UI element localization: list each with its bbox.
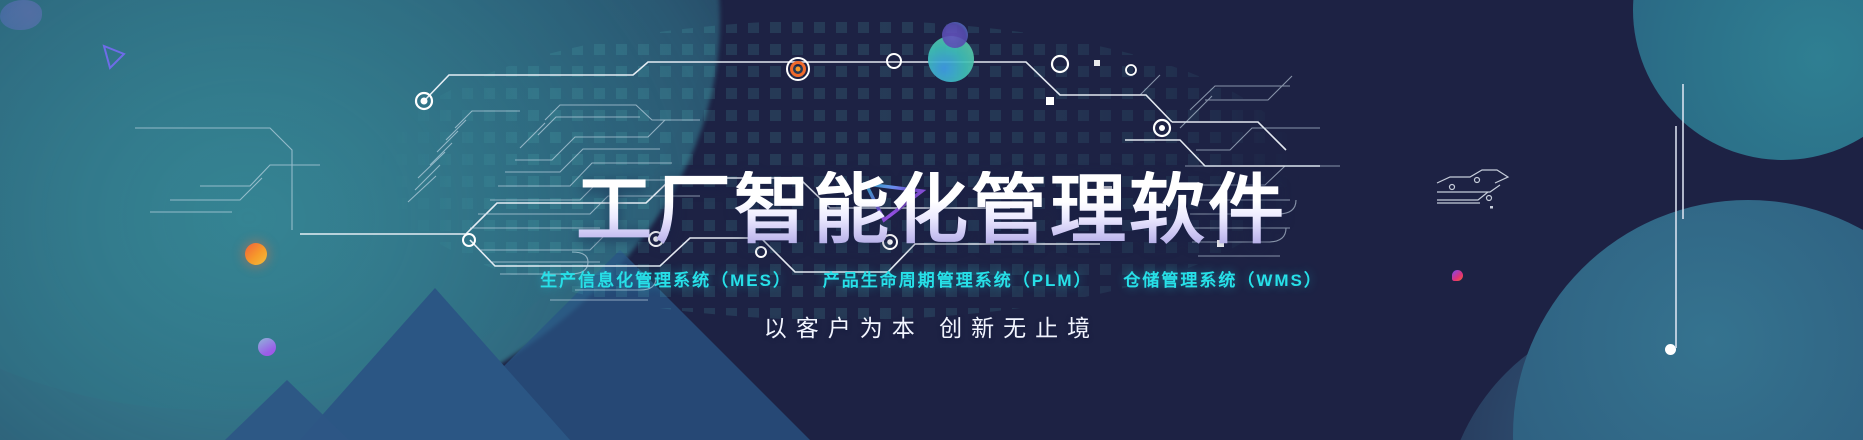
- banner-content: 工厂智能化管理软件 生产信息化管理系统（MES） 产品生命周期管理系统（PLM）…: [0, 0, 1863, 440]
- subtitle-segment-wms: 仓储管理系统（WMS）: [1123, 270, 1323, 292]
- banner-subtitle: 生产信息化管理系统（MES） 产品生命周期管理系统（PLM） 仓储管理系统（WM…: [0, 270, 1863, 292]
- subtitle-segment-mes: 生产信息化管理系统（MES）: [540, 270, 792, 292]
- hero-banner: 工厂智能化管理软件 生产信息化管理系统（MES） 产品生命周期管理系统（PLM）…: [0, 0, 1863, 440]
- banner-tagline: 以客户为本 创新无止境: [0, 313, 1863, 343]
- subtitle-segment-plm: 产品生命周期管理系统（PLM）: [823, 270, 1093, 292]
- banner-title: 工厂智能化管理软件: [0, 171, 1863, 251]
